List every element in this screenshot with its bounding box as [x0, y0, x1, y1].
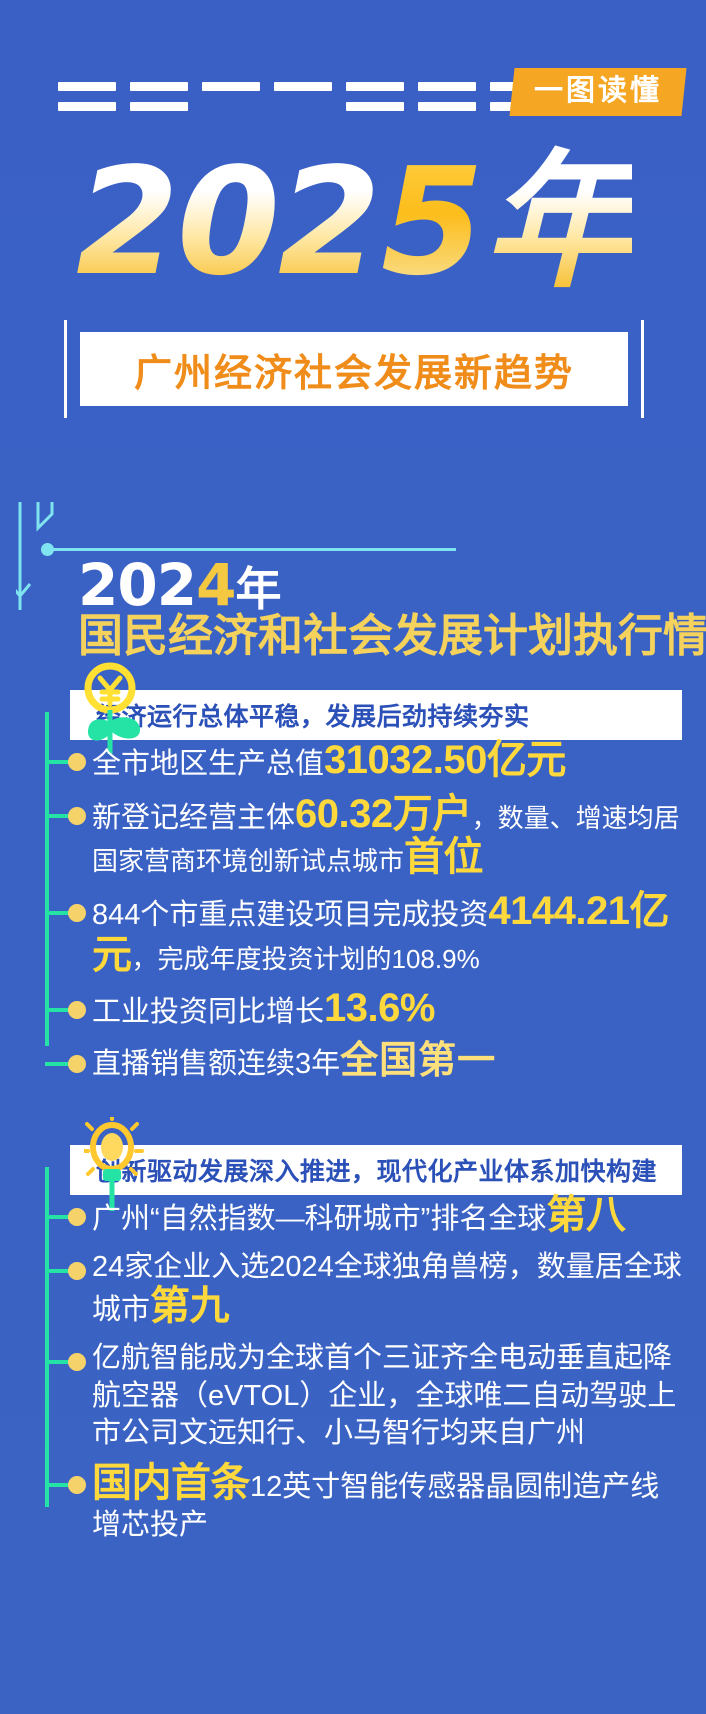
- list-item: 工业投资同比增长13.6%: [70, 988, 688, 1032]
- list-item: 国内首条12英寸智能传感器晶圆制造产线增芯投产: [70, 1463, 688, 1544]
- text-run: 亿航智能成为全球首个三证齐全电动垂直起降航空器（eVTOL）企业，全球唯二自动驾…: [92, 1342, 676, 1449]
- list-item-text: 24家企业入选2024全球独角兽榜，数量居全球城市第九: [92, 1249, 688, 1330]
- subtitle-rail-right: [641, 320, 644, 418]
- list-item-text: 广州“自然指数—科研城市”排名全球第八: [92, 1195, 688, 1239]
- year-suffix: 年: [482, 136, 632, 308]
- subtitle-rail-left: [64, 320, 67, 418]
- highlight-value: 第八: [546, 1193, 625, 1237]
- list-item-text: 国内首条12英寸智能传感器晶圆制造产线增芯投产: [92, 1463, 688, 1544]
- list-item: 直播销售额连续3年全国第一: [70, 1042, 688, 1084]
- bullet-list: 全市地区生产总值31032.50亿元新登记经营主体60.32万户，数量、增速均居…: [70, 740, 688, 1084]
- bullet-dot-icon: [68, 1001, 86, 1019]
- list-item: 全市地区生产总值31032.50亿元: [70, 740, 688, 784]
- y24-suffix: 年: [235, 562, 281, 616]
- list-item-text: 工业投资同比增长13.6%: [92, 988, 688, 1032]
- infographic-page: 一图读懂 2025年 2025年 2025年 广州经济社会发展新趋势 2024年…: [0, 0, 706, 1714]
- highlight-value: 全国第一: [340, 1040, 496, 1082]
- subtitle-text: 广州经济社会发展新趋势: [134, 342, 574, 397]
- list-item: 广州“自然指数—科研城市”排名全球第八: [70, 1195, 688, 1239]
- bullet-dot-icon: [68, 904, 86, 922]
- bullet-dot-icon: [68, 1208, 86, 1226]
- bullet-dot-icon: [68, 1262, 86, 1280]
- text-run: 广州“自然指数—科研城市”排名全球: [92, 1203, 546, 1235]
- highlight-value: 第九: [150, 1284, 229, 1328]
- y24-digit: 4: [196, 551, 235, 619]
- top-ribbon: 一图读懂: [0, 68, 706, 132]
- dash-line-top: [58, 82, 478, 91]
- list-item-text: 新登记经营主体60.32万户，数量、增速均居国家营商环境创新试点城市首位: [92, 794, 688, 881]
- dash-decoration: [58, 74, 478, 118]
- year-digit: 5: [381, 136, 482, 308]
- list-item-text: 直播销售额连续3年全国第一: [92, 1042, 688, 1084]
- tag-label: 一图读懂: [534, 77, 662, 106]
- section-body: 广州“自然指数—科研城市”排名全球第八24家企业入选2024全球独角兽榜，数量居…: [0, 1195, 706, 1545]
- page-title-year: 2025年 2025年 2025年: [0, 148, 706, 296]
- list-item: 新登记经营主体60.32万户，数量、增速均居国家营商环境创新试点城市首位: [70, 794, 688, 881]
- bullet-dot-icon: [68, 1476, 86, 1494]
- list-item: 24家企业入选2024全球独角兽榜，数量居全球城市第九: [70, 1249, 688, 1330]
- text-run: 新登记经营主体: [92, 802, 295, 834]
- section-title: 创新驱动发展深入推进，现代化产业体系加快构建: [70, 1152, 657, 1188]
- bullet-dot-icon: [68, 1055, 86, 1073]
- subtitle-box: 广州经济社会发展新趋势: [80, 332, 628, 406]
- list-item: 844个市重点建设项目完成投资4144.21亿元，完成年度投资计划的108.9%: [70, 891, 688, 978]
- text-run: 工业投资同比增长: [92, 996, 324, 1028]
- highlight-value: 60.32万户: [295, 792, 472, 836]
- subtitle-block: 广州经济社会发展新趋势: [52, 332, 656, 406]
- year-2024-subheading: 国民经济和社会发展计划执行情况: [78, 612, 706, 659]
- section-header: 创新驱动发展深入推进，现代化产业体系加快构建: [70, 1145, 682, 1195]
- year-prefix: 202: [74, 136, 381, 308]
- year-2024-heading: 2024年: [78, 556, 281, 614]
- list-item-text: 全市地区生产总值31032.50亿元: [92, 740, 688, 784]
- text-run: 直播销售额连续3年: [92, 1048, 340, 1080]
- text-run: 全市地区生产总值: [92, 748, 324, 780]
- section-header: 经济运行总体平稳，发展后劲持续夯实: [70, 690, 682, 740]
- bullet-list: 广州“自然指数—科研城市”排名全球第八24家企业入选2024全球独角兽榜，数量居…: [70, 1195, 688, 1545]
- list-item-text: 844个市重点建设项目完成投资4144.21亿元，完成年度投资计划的108.9%: [92, 891, 688, 978]
- list-item-text: 亿航智能成为全球首个三证齐全电动垂直起降航空器（eVTOL）企业，全球唯二自动驾…: [92, 1340, 688, 1453]
- bullet-dot-icon: [68, 753, 86, 771]
- bullet-dot-icon: [68, 1353, 86, 1371]
- y24-prefix: 202: [78, 551, 196, 619]
- list-item: 亿航智能成为全球首个三证齐全电动垂直起降航空器（eVTOL）企业，全球唯二自动驾…: [70, 1340, 688, 1453]
- down-arrow-icon: [16, 500, 68, 618]
- section-innovation: 创新驱动发展深入推进，现代化产业体系加快构建 广州“自然指数—科研城市”排名全球…: [0, 1145, 706, 1555]
- section-economy: 经济运行总体平稳，发展后劲持续夯实 全市地区生产总值31032.50亿元新登记经…: [0, 690, 706, 1094]
- highlight-value: 31032.50亿元: [324, 738, 566, 782]
- text-run: 844个市重点建设项目完成投资: [92, 899, 488, 931]
- highlight-value: 13.6%: [324, 986, 435, 1030]
- highlight-value: 首位: [404, 835, 483, 879]
- read-at-a-glance-tag: 一图读懂: [509, 68, 686, 116]
- dash-line-bottom: [58, 102, 478, 111]
- bullet-dot-icon: [68, 807, 86, 825]
- section-body: 全市地区生产总值31032.50亿元新登记经营主体60.32万户，数量、增速均居…: [0, 740, 706, 1084]
- text-run: ，完成年度投资计划的108.9%: [132, 944, 480, 974]
- highlight-value: 国内首条: [92, 1461, 250, 1505]
